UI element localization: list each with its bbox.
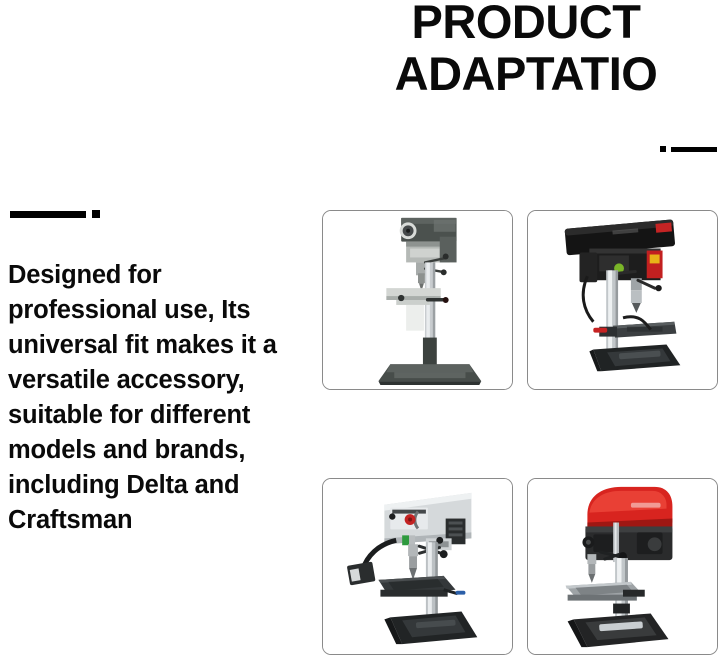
accent-bar [10,211,86,218]
product-image-card [527,210,718,390]
product-image-grid [322,210,718,655]
accent-bar [671,147,717,152]
product-image-card [527,478,718,655]
product-image-card [322,210,513,390]
body-accent-rule [10,210,100,218]
drill-press-gray-with-lamp-image [323,479,512,654]
drill-press-red-craftsman-style-image [528,479,717,654]
product-image-card [322,478,513,655]
page-title: PRODUCT ADAPTATIO [330,0,722,100]
product-description: Designed for professional use, Its unive… [8,258,308,538]
accent-dot [660,146,666,152]
accent-dot [92,210,100,218]
header-accent-rule [660,146,717,152]
drill-press-black-red-benchtop-image [528,211,717,389]
drill-press-floor-standing-image [323,211,512,389]
